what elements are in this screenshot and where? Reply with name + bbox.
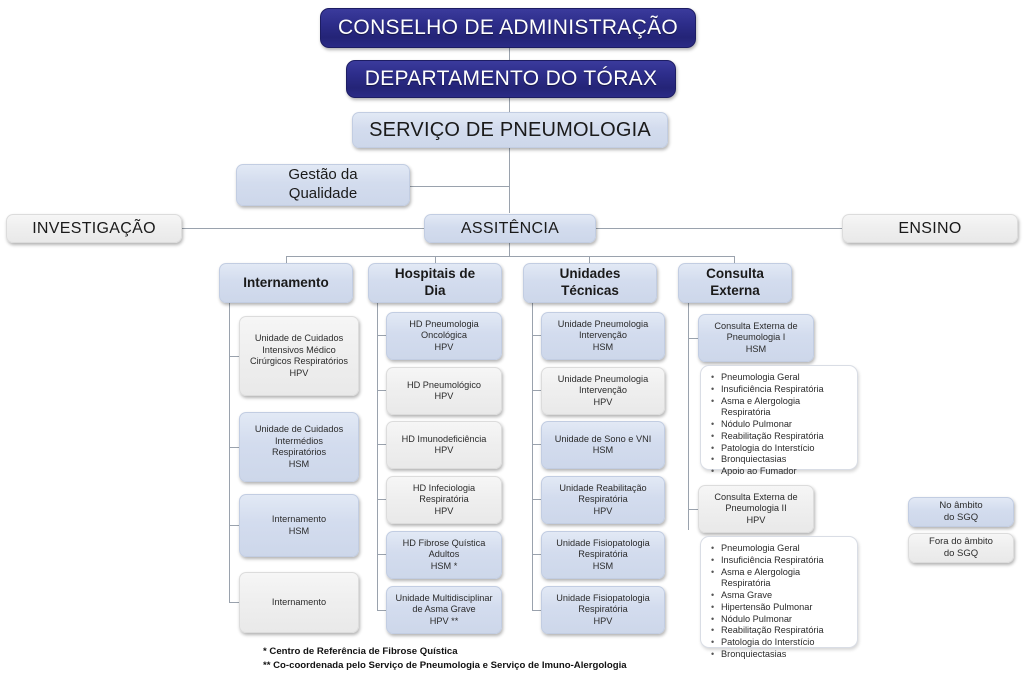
node-internamento-item-4-label: Internamento: [272, 597, 326, 609]
node-departamento-torax[interactable]: DEPARTAMENTO DO TÓRAX: [346, 60, 676, 98]
bullet-list-consulta-externa-i: Pneumologia Geral Insuficiência Respirat…: [701, 366, 857, 484]
stub-col2-3: [377, 444, 386, 445]
spine-col3: [532, 302, 533, 610]
stub-col2-4: [377, 499, 386, 500]
node-ensino-label: ENSINO: [898, 219, 961, 239]
node-hospitais-dia-item-1[interactable]: HD Pneumologia Oncológica HPV: [386, 312, 502, 360]
stub-col3-5: [532, 554, 541, 555]
column-header-hospitais-de-dia-label: Hospitais de Dia: [395, 266, 475, 300]
node-hospitais-dia-item-2[interactable]: HD Pneumológico HPV: [386, 367, 502, 415]
stub-col2-1: [377, 335, 386, 336]
node-ensino[interactable]: ENSINO: [842, 214, 1018, 243]
node-unidades-tecnicas-item-6-label: Unidade Fisiopatologia Respiratória HPV: [556, 593, 649, 628]
node-gestao-qualidade[interactable]: Gestão da Qualidade: [236, 164, 410, 206]
node-gestao-qualidade-label: Gestão da Qualidade: [288, 166, 357, 204]
node-conselho-administracao[interactable]: CONSELHO DE ADMINISTRAÇÃO: [320, 8, 696, 48]
connector-assistencia-down: [509, 242, 510, 257]
column-header-internamento[interactable]: Internamento: [219, 263, 353, 303]
connector-departamento-servico: [509, 97, 510, 112]
node-unidades-tecnicas-item-3-label: Unidade de Sono e VNI HSM: [555, 434, 652, 457]
node-investigacao[interactable]: INVESTIGAÇÃO: [6, 214, 182, 243]
bullet-item: Apoio ao Fumador: [721, 466, 851, 478]
node-hospitais-dia-item-4-label: HD Infeciologia Respiratória HPV: [413, 483, 475, 518]
stub-col3-3: [532, 444, 541, 445]
legend-no-ambito-sgq-label: No âmbito do SGQ: [939, 500, 982, 524]
bullet-item: Bronquiectasias: [721, 649, 851, 661]
node-unidades-tecnicas-item-4[interactable]: Unidade Reabilitação Respiratória HPV: [541, 476, 665, 524]
stub-col2-2: [377, 390, 386, 391]
connector-servico-assistencia: [509, 147, 510, 213]
stub-col1-4: [229, 602, 239, 603]
bullet-item: Nódulo Pulmonar: [721, 419, 851, 431]
bullet-panel-consulta-externa-i: Pneumologia Geral Insuficiência Respirat…: [700, 365, 858, 470]
column-header-internamento-label: Internamento: [243, 275, 329, 292]
column-header-consulta-externa[interactable]: Consulta Externa: [678, 263, 792, 303]
bullet-item: Reabilitação Respiratória: [721, 625, 851, 637]
node-hospitais-dia-item-4[interactable]: HD Infeciologia Respiratória HPV: [386, 476, 502, 524]
node-hospitais-dia-item-1-label: HD Pneumologia Oncológica HPV: [409, 319, 478, 354]
bullet-item: Bronquiectasias: [721, 454, 851, 466]
bullet-item: Reabilitação Respiratória: [721, 431, 851, 443]
stub-col2-6: [377, 610, 386, 611]
bullet-item: Asma Grave: [721, 590, 851, 602]
legend-fora-ambito-sgq: Fora do âmbito do SGQ: [908, 533, 1014, 563]
bullet-item: Insuficiência Respiratória: [721, 384, 851, 396]
node-servico-label: SERVIÇO DE PNEUMOLOGIA: [369, 118, 651, 143]
stub-col3-2: [532, 390, 541, 391]
node-conselho-label: CONSELHO DE ADMINISTRAÇÃO: [338, 15, 678, 41]
legend-no-ambito-sgq: No âmbito do SGQ: [908, 497, 1014, 527]
node-unidades-tecnicas-item-6[interactable]: Unidade Fisiopatologia Respiratória HPV: [541, 586, 665, 634]
node-hospitais-dia-item-6-label: Unidade Multidisciplinar de Asma Grave H…: [395, 593, 492, 628]
node-unidades-tecnicas-item-2-label: Unidade Pneumologia Intervenção HPV: [558, 374, 648, 409]
connector-gestao-qualidade: [409, 186, 510, 187]
node-unidades-tecnicas-item-3[interactable]: Unidade de Sono e VNI HSM: [541, 421, 665, 469]
stub-col2-5: [377, 554, 386, 555]
node-unidades-tecnicas-item-5-label: Unidade Fisiopatologia Respiratória HSM: [556, 538, 649, 573]
bullet-item: Pneumologia Geral: [721, 372, 851, 384]
node-internamento-item-3[interactable]: Internamento HSM: [239, 494, 359, 557]
node-unidades-tecnicas-item-2[interactable]: Unidade Pneumologia Intervenção HPV: [541, 367, 665, 415]
node-hospitais-dia-item-5-label: HD Fibrose Quística Adultos HSM *: [403, 538, 486, 573]
connector-columns-bar: [286, 256, 734, 257]
column-header-unidades-tecnicas-label: Unidades Técnicas: [560, 266, 621, 300]
node-departamento-label: DEPARTAMENTO DO TÓRAX: [365, 66, 658, 92]
node-hospitais-dia-item-5[interactable]: HD Fibrose Quística Adultos HSM *: [386, 531, 502, 579]
node-consulta-externa-ii-label: Consulta Externa de Pneumologia II HPV: [714, 492, 797, 527]
connector-tier-left: [182, 228, 424, 229]
node-consulta-externa-ii[interactable]: Consulta Externa de Pneumologia II HPV: [698, 485, 814, 533]
node-unidades-tecnicas-item-1-label: Unidade Pneumologia Intervenção HSM: [558, 319, 648, 354]
node-assistencia[interactable]: ASSITÊNCIA: [424, 214, 596, 243]
bullet-item: Asma e Alergologia Respiratória: [721, 567, 851, 591]
column-header-unidades-tecnicas[interactable]: Unidades Técnicas: [523, 263, 657, 303]
stub-col3-1: [532, 335, 541, 336]
node-unidades-tecnicas-item-4-label: Unidade Reabilitação Respiratória HPV: [559, 483, 646, 518]
node-consulta-externa-i-label: Consulta Externa de Pneumologia I HSM: [714, 321, 797, 356]
column-header-hospitais-de-dia[interactable]: Hospitais de Dia: [368, 263, 502, 303]
node-assistencia-label: ASSITÊNCIA: [461, 219, 559, 239]
bullet-item: Asma e Alergologia Respiratória: [721, 396, 851, 420]
stub-col4-2: [688, 509, 698, 510]
column-header-consulta-externa-label: Consulta Externa: [706, 266, 764, 300]
stub-col3-4: [532, 499, 541, 500]
bullet-panel-consulta-externa-ii: Pneumologia Geral Insuficiência Respirat…: [700, 536, 858, 648]
stub-col3-6: [532, 610, 541, 611]
node-internamento-item-4[interactable]: Internamento: [239, 572, 359, 633]
node-internamento-item-3-label: Internamento HSM: [272, 514, 326, 537]
spine-col2: [377, 302, 378, 610]
footnote-2: ** Co-coordenada pelo Serviço de Pneumol…: [263, 659, 627, 673]
node-internamento-item-2[interactable]: Unidade de Cuidados Intermédios Respirat…: [239, 412, 359, 482]
bullet-item: Pneumologia Geral: [721, 543, 851, 555]
organizational-chart: CONSELHO DE ADMINISTRAÇÃO DEPARTAMENTO D…: [0, 0, 1024, 677]
node-investigacao-label: INVESTIGAÇÃO: [32, 219, 156, 239]
stub-col4-1: [688, 338, 698, 339]
bullet-item: Nódulo Pulmonar: [721, 614, 851, 626]
spine-col4: [688, 302, 689, 530]
bullet-item: Patologia do Interstício: [721, 637, 851, 649]
footnotes: * Centro de Referência de Fibrose Quísti…: [263, 645, 627, 673]
node-consulta-externa-i[interactable]: Consulta Externa de Pneumologia I HSM: [698, 314, 814, 362]
node-unidades-tecnicas-item-1[interactable]: Unidade Pneumologia Intervenção HSM: [541, 312, 665, 360]
spine-col1: [229, 302, 230, 602]
node-internamento-item-1-label: Unidade de Cuidados Intensivos Médico Ci…: [250, 333, 348, 379]
bullet-item: Patologia do Interstício: [721, 443, 851, 455]
bullet-item: Hipertensão Pulmonar: [721, 602, 851, 614]
node-hospitais-dia-item-6[interactable]: Unidade Multidisciplinar de Asma Grave H…: [386, 586, 502, 634]
stub-col1-3: [229, 525, 239, 526]
node-hospitais-dia-item-3-label: HD Imunodeficiência HPV: [402, 434, 487, 457]
legend-fora-ambito-sgq-label: Fora do âmbito do SGQ: [929, 536, 993, 560]
bullet-item: Insuficiência Respiratória: [721, 555, 851, 567]
node-servico-pneumologia[interactable]: SERVIÇO DE PNEUMOLOGIA: [352, 112, 668, 148]
stub-col1-1: [229, 356, 239, 357]
node-hospitais-dia-item-3[interactable]: HD Imunodeficiência HPV: [386, 421, 502, 469]
node-hospitais-dia-item-2-label: HD Pneumológico HPV: [407, 380, 481, 403]
node-internamento-item-1[interactable]: Unidade de Cuidados Intensivos Médico Ci…: [239, 316, 359, 396]
connector-tier-right: [595, 228, 843, 229]
bullet-list-consulta-externa-ii: Pneumologia Geral Insuficiência Respirat…: [701, 537, 857, 667]
node-internamento-item-2-label: Unidade de Cuidados Intermédios Respirat…: [255, 424, 343, 470]
node-unidades-tecnicas-item-5[interactable]: Unidade Fisiopatologia Respiratória HSM: [541, 531, 665, 579]
footnote-1: * Centro de Referência de Fibrose Quísti…: [263, 645, 627, 659]
stub-col1-2: [229, 447, 239, 448]
